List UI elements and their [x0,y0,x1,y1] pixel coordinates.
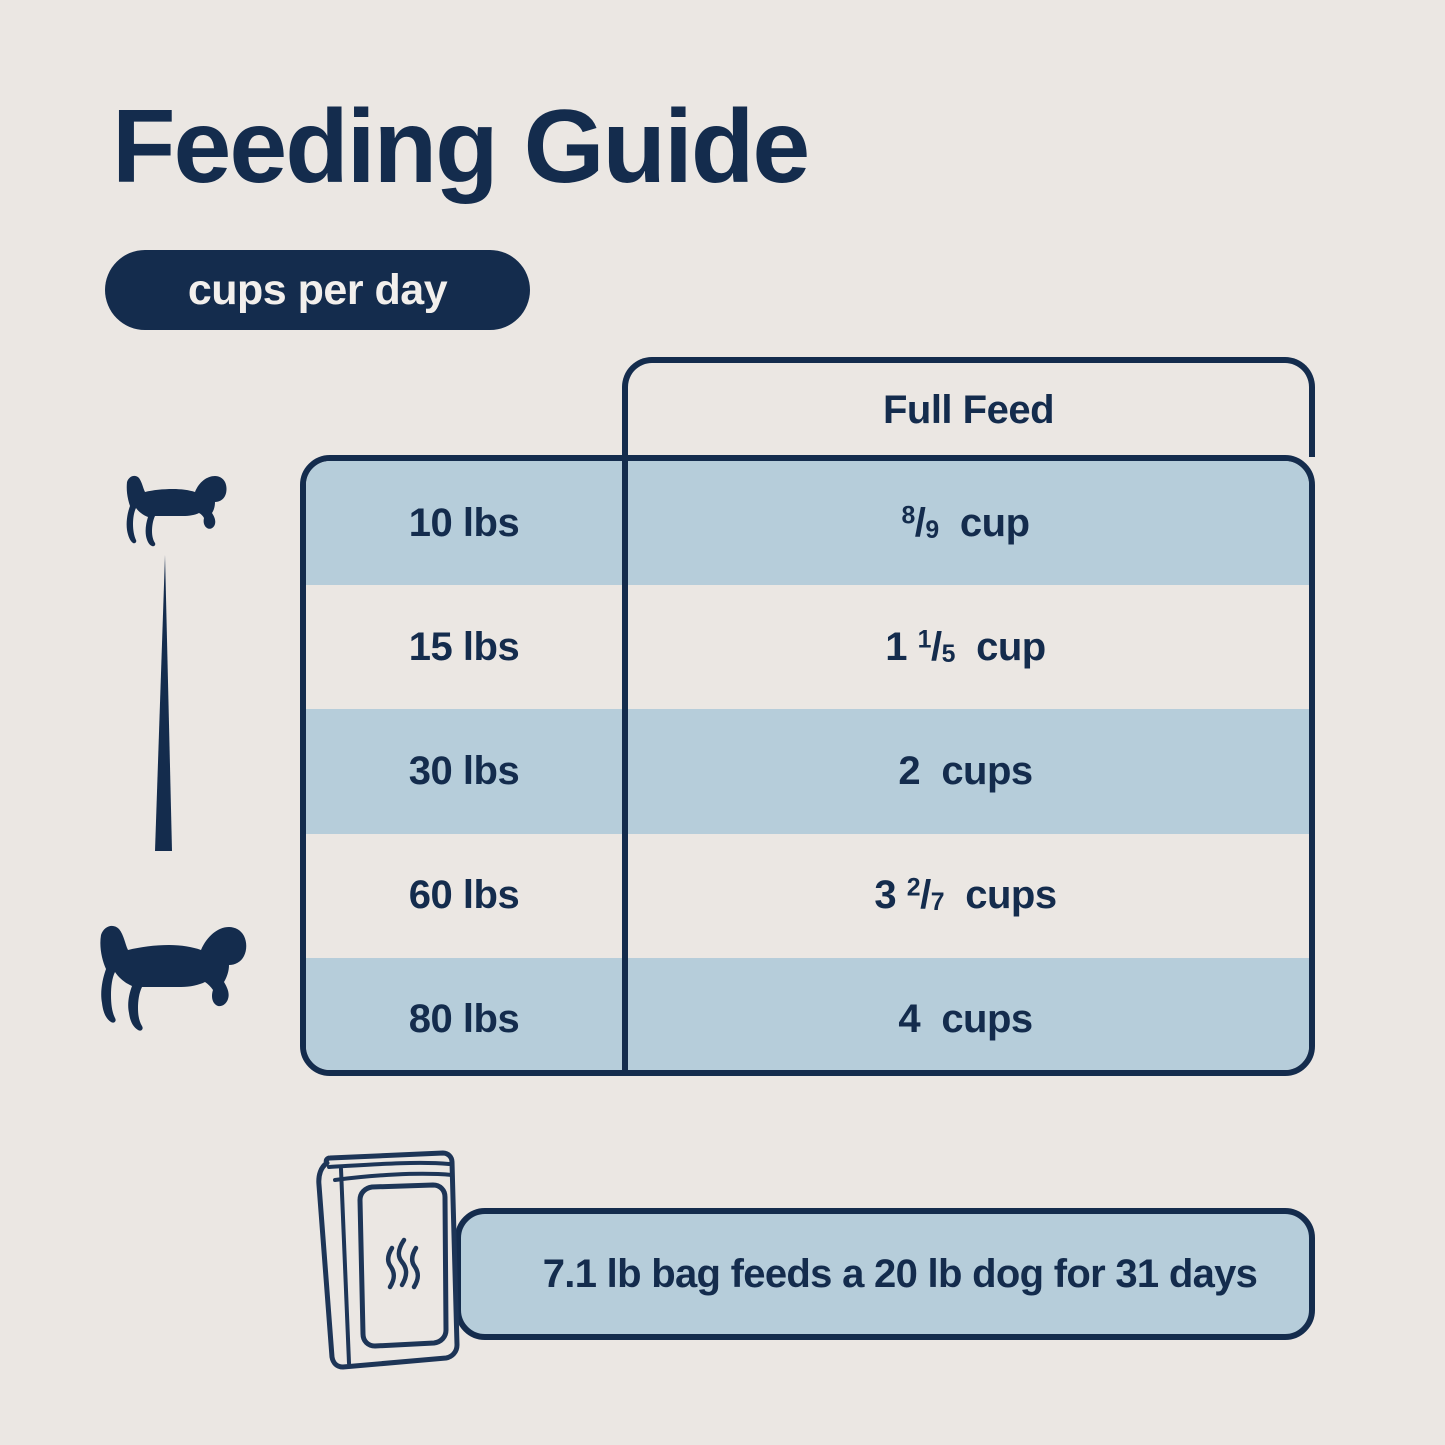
fraction-slash: / [920,873,931,917]
feeding-guide-infographic: Feeding Guide cups per day Full Feed [0,0,1445,1445]
page-title: Feeding Guide [112,95,808,199]
table-row: 15 lbs 1 1/5 cup [306,585,1309,709]
feed-whole-number: 4 [898,997,920,1041]
dog-small-icon [115,468,230,553]
cell-full-feed: 4 cups [622,997,1309,1042]
fraction-numerator: 1 [918,626,931,653]
bag-duration-text: 7.1 lb bag feeds a 20 lb dog for 31 days [513,1252,1257,1297]
bag-duration-banner: 7.1 lb bag feeds a 20 lb dog for 31 days [455,1208,1315,1340]
full-feed-header-card: Full Feed [622,357,1315,457]
feed-whole-number: 3 [874,873,896,917]
column-header-full-feed: Full Feed [883,388,1054,433]
feed-unit: cup [976,625,1046,669]
fraction-slash: / [915,501,926,545]
fraction-slash: / [931,625,942,669]
feed-unit: cups [941,749,1032,793]
dog-large-icon [85,915,250,1040]
cell-full-feed: 3 2/7 cups [622,873,1309,918]
table-row: 30 lbs 2 cups [306,709,1309,833]
food-bag-icon [305,1145,480,1375]
feed-whole-number: 2 [898,749,920,793]
fraction-numerator: 2 [907,875,920,902]
cell-weight: 60 lbs [306,873,622,918]
fraction-denominator: 7 [931,889,944,916]
cell-full-feed: 2 cups [622,749,1309,794]
dog-size-indicator [80,460,270,1100]
size-gradient-wedge-icon [145,555,185,860]
feeding-table: 10 lbs 8/9 cup 15 lbs 1 1/5 cup 30 lbs 2… [300,455,1315,1076]
table-row: 60 lbs 3 2/7 cups [306,834,1309,958]
table-row: 10 lbs 8/9 cup [306,461,1309,585]
table-row: 80 lbs 4 cups [306,958,1309,1076]
feed-whole-number: 1 [885,625,907,669]
cell-weight: 80 lbs [306,997,622,1042]
cups-per-day-badge: cups per day [105,250,530,330]
cell-full-feed: 8/9 cup [622,501,1309,546]
feed-unit: cup [960,501,1030,545]
cell-weight: 15 lbs [306,625,622,670]
feed-unit: cups [965,873,1056,917]
fraction-denominator: 9 [925,517,938,544]
cell-weight: 30 lbs [306,749,622,794]
cell-weight: 10 lbs [306,501,622,546]
column-divider [622,461,628,1076]
feed-unit: cups [941,997,1032,1041]
fraction-denominator: 5 [942,641,955,668]
fraction-numerator: 8 [901,502,914,529]
cell-full-feed: 1 1/5 cup [622,625,1309,670]
badge-label: cups per day [188,266,447,315]
